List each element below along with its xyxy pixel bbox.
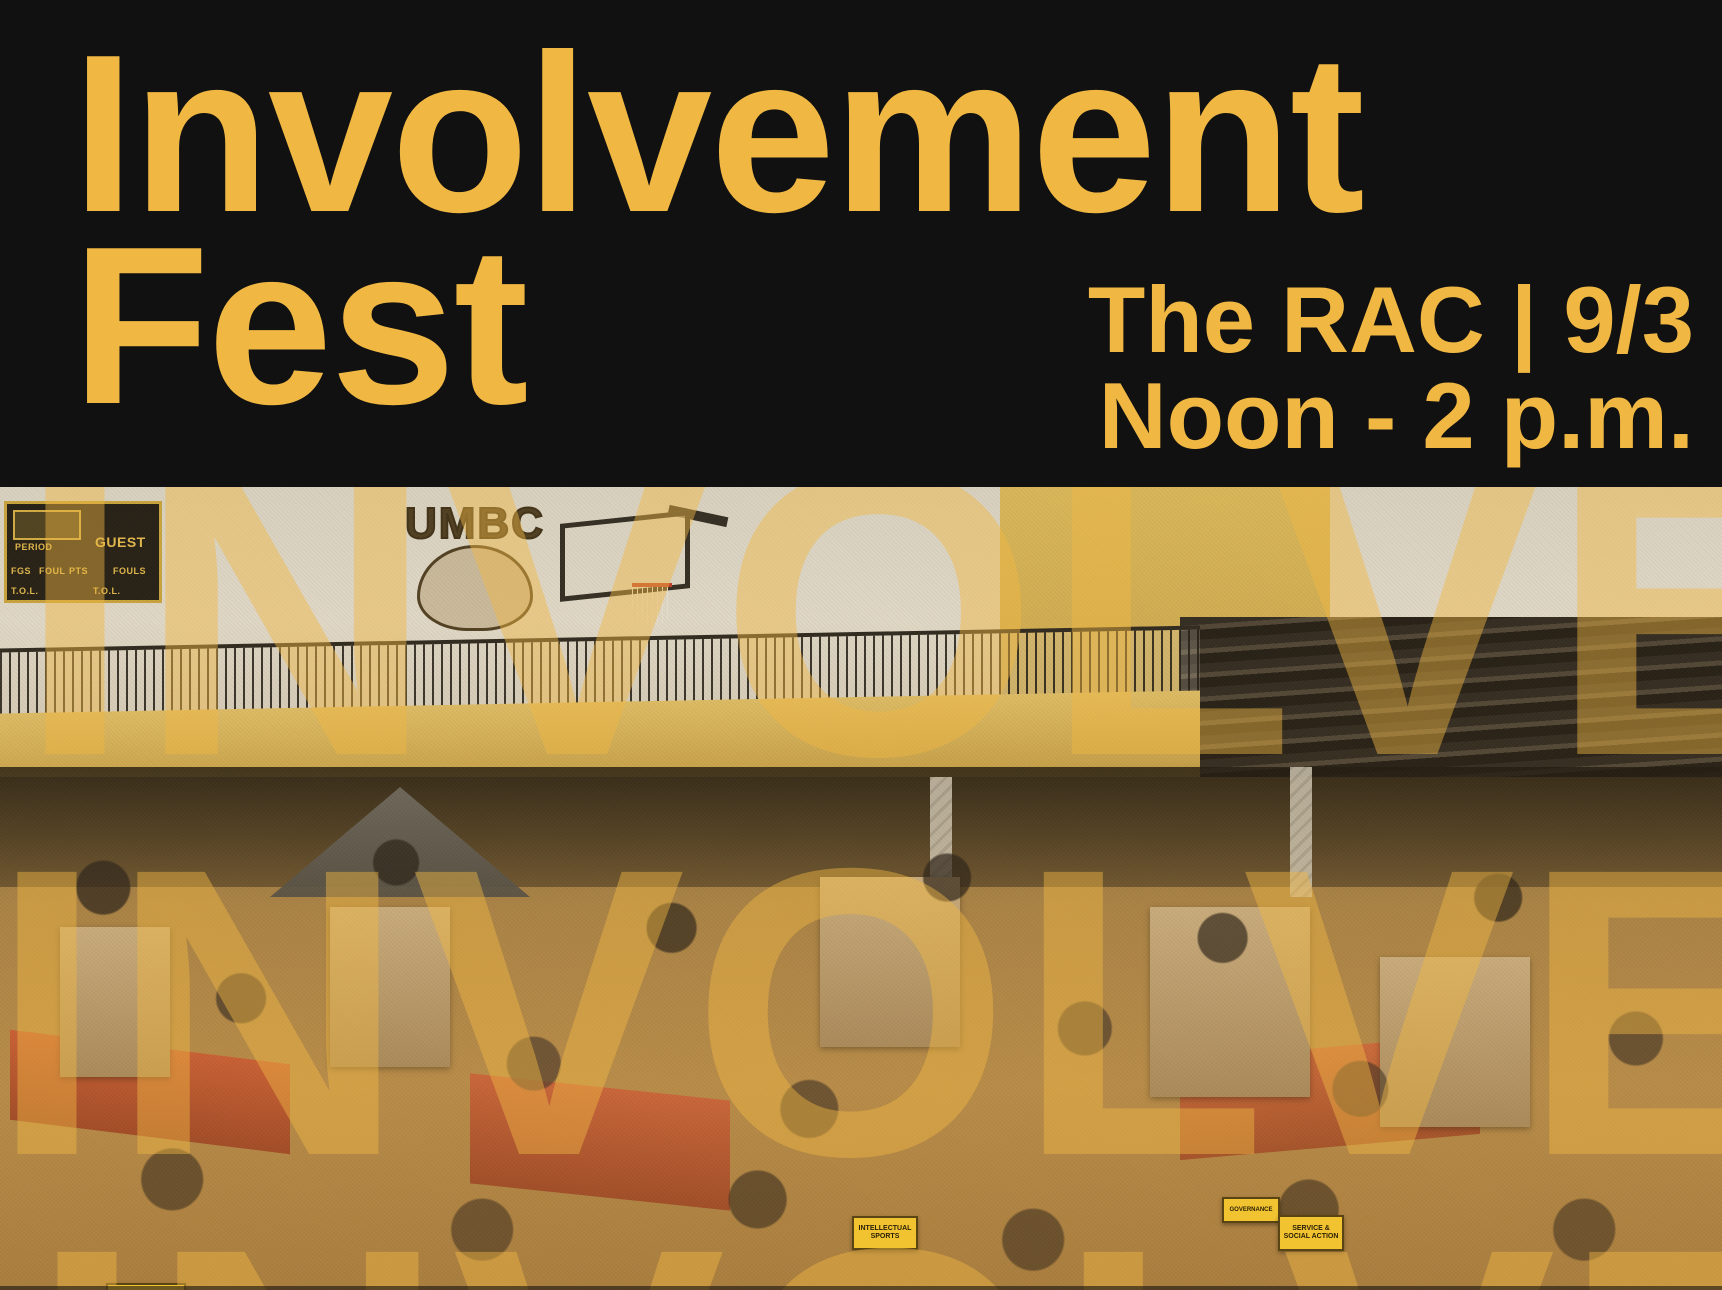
- scoreboard-fouls-label: FOULS: [113, 566, 146, 576]
- event-location-date: The RAC | 9/3: [1088, 272, 1694, 368]
- scoreboard-tol-right-label: T.O.L.: [93, 586, 121, 596]
- involvement-fest-poster: Involvement Fest The RAC | 9/3 Noon - 2 …: [0, 0, 1722, 1290]
- scoreboard-foul-label: FOUL: [39, 566, 66, 576]
- scoreboard: PERIOD GUEST FGS FOUL PTS FOULS T.O.L. T…: [4, 501, 162, 603]
- poster-header: Involvement Fest The RAC | 9/3 Noon - 2 …: [0, 0, 1722, 487]
- event-details: The RAC | 9/3 Noon - 2 p.m.: [1088, 272, 1694, 464]
- hoop-net: [632, 583, 672, 627]
- umbc-wordmark: UMBC: [380, 499, 570, 549]
- scoreboard-pts-label: PTS: [69, 566, 88, 576]
- event-photo: PERIOD GUEST FGS FOUL PTS FOULS T.O.L. T…: [0, 487, 1722, 1290]
- scoreboard-tol-left-label: T.O.L.: [11, 586, 39, 596]
- scoreboard-fgs-label: FGS: [11, 566, 31, 576]
- bottom-edge-strip: [0, 1286, 1722, 1290]
- retriever-mascot-icon: [417, 545, 533, 631]
- basketball-hoop-icon: [560, 517, 710, 627]
- crowd-of-students: [0, 787, 1722, 1290]
- umbc-logo: UMBC: [380, 499, 570, 649]
- event-time: Noon - 2 p.m.: [1088, 368, 1694, 464]
- scoreboard-home-panel: [13, 510, 81, 540]
- scoreboard-period-label: PERIOD: [15, 542, 53, 552]
- scoreboard-guest-label: GUEST: [95, 534, 146, 550]
